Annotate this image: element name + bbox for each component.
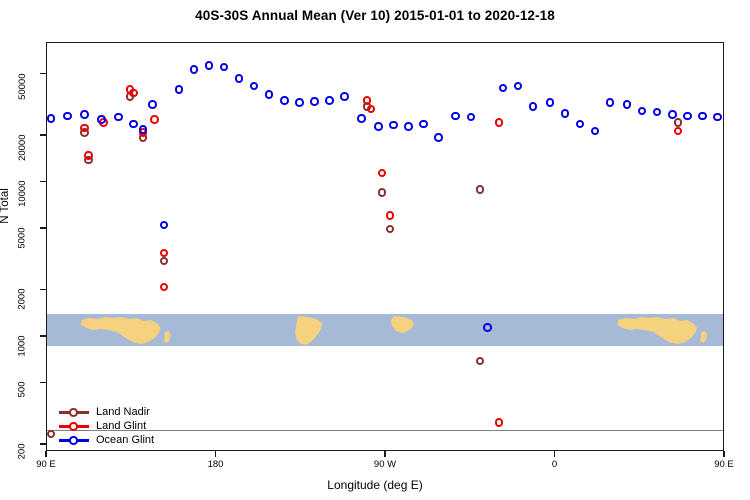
x-tick	[384, 451, 385, 457]
data-point	[576, 120, 585, 129]
x-tick	[723, 451, 724, 457]
data-point	[325, 96, 334, 105]
data-point	[80, 110, 89, 119]
plot-area: Land Nadir Land Glint Ocean Glint	[46, 42, 724, 451]
x-tick-label: 180	[208, 459, 224, 470]
legend-label-land-glint: Land Glint	[96, 420, 146, 432]
data-point	[148, 100, 157, 109]
data-point	[674, 127, 683, 136]
data-point	[160, 257, 169, 266]
data-point	[310, 97, 319, 106]
legend-item: Land Nadir	[59, 405, 154, 419]
legend-label-land-nadir: Land Nadir	[96, 406, 150, 418]
data-point	[499, 84, 508, 93]
data-point	[220, 63, 229, 72]
x-tick	[215, 451, 216, 457]
chart-title: 40S-30S Annual Mean (Ver 10) 2015-01-01 …	[0, 8, 750, 23]
data-point	[606, 98, 615, 107]
legend-item: Ocean Glint	[59, 433, 154, 447]
data-point	[623, 100, 632, 109]
x-tick-label: 90 E	[714, 459, 734, 470]
x-tick-label: 0	[552, 459, 557, 470]
data-point	[129, 89, 138, 98]
data-point	[389, 121, 398, 130]
data-point	[367, 105, 376, 114]
data-point	[698, 112, 707, 121]
data-point	[340, 92, 349, 101]
data-point	[190, 65, 199, 74]
data-point	[653, 108, 662, 117]
data-point	[378, 169, 387, 178]
data-point	[467, 113, 476, 122]
data-point	[483, 323, 492, 332]
data-point	[63, 112, 72, 121]
data-point	[404, 122, 413, 131]
data-point	[84, 151, 93, 160]
y-tick-label: 1000	[17, 335, 28, 356]
data-point	[668, 110, 677, 119]
data-point	[357, 114, 366, 123]
y-axis-label: N Total	[0, 146, 11, 266]
figure-root: 40S-30S Annual Mean (Ver 10) 2015-01-01 …	[0, 0, 750, 500]
legend-symbol-land-glint	[59, 420, 89, 432]
data-point	[295, 98, 304, 107]
data-point	[495, 418, 504, 427]
x-tick	[45, 451, 46, 457]
data-point	[419, 120, 428, 129]
x-axis-label: Longitude (deg E)	[0, 478, 750, 492]
data-point	[674, 118, 683, 127]
data-point	[476, 185, 485, 194]
data-point	[638, 107, 647, 116]
data-point	[114, 113, 123, 122]
data-point	[265, 90, 274, 99]
data-point	[250, 82, 259, 91]
y-tick-label: 2000	[17, 289, 28, 310]
data-point	[495, 118, 504, 127]
data-point	[561, 109, 570, 118]
data-point	[476, 357, 485, 366]
data-point	[546, 98, 555, 107]
data-point	[160, 283, 169, 292]
data-point	[713, 113, 722, 122]
data-point	[363, 96, 372, 105]
world-map-band	[47, 314, 723, 346]
data-point	[451, 112, 460, 121]
data-point	[47, 114, 56, 123]
data-point	[205, 61, 214, 70]
data-point	[374, 122, 383, 131]
y-tick-label: 500	[17, 382, 28, 398]
y-tick-label: 200	[17, 443, 28, 459]
data-point	[160, 221, 169, 230]
data-point	[378, 188, 387, 197]
y-tick-label: 20000	[17, 134, 28, 160]
y-tick-label: 5000	[17, 227, 28, 248]
y-tick-label: 10000	[17, 181, 28, 207]
data-point	[47, 430, 56, 439]
data-point	[529, 102, 538, 111]
map-land-shapes	[81, 316, 707, 345]
x-tick-label: 90 E	[36, 459, 56, 470]
data-point	[160, 249, 169, 258]
legend: Land Nadir Land Glint Ocean Glint	[59, 405, 154, 447]
data-point	[97, 115, 106, 124]
legend-label-ocean-glint: Ocean Glint	[96, 434, 154, 446]
legend-item: Land Glint	[59, 419, 154, 433]
legend-symbol-land-nadir	[59, 406, 89, 418]
y-tick-label: 50000	[17, 73, 28, 99]
data-point	[386, 225, 395, 234]
data-point	[591, 127, 600, 136]
data-point	[514, 82, 523, 91]
data-point	[150, 115, 159, 124]
data-point	[235, 74, 244, 83]
data-point	[683, 112, 692, 121]
x-tick	[554, 451, 555, 457]
x-tick-label: 90 W	[374, 459, 396, 470]
data-point	[139, 125, 148, 134]
data-point	[280, 96, 289, 105]
data-point	[175, 85, 184, 94]
data-point	[129, 120, 138, 129]
data-point	[386, 211, 395, 220]
map-band-svg	[47, 314, 723, 346]
data-point	[434, 133, 443, 142]
legend-symbol-ocean-glint	[59, 434, 89, 446]
